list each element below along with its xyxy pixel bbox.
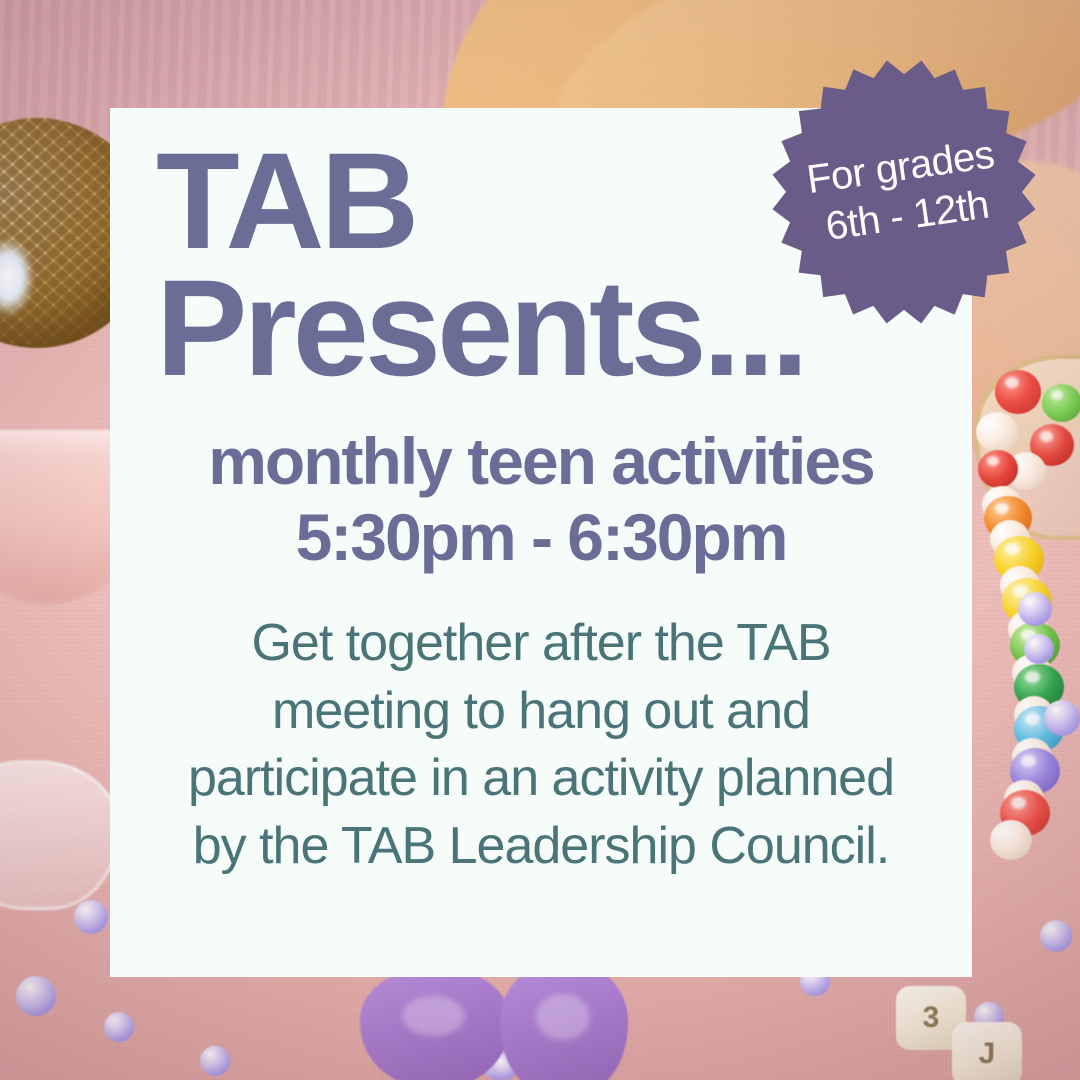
badge-text: For grades 6th - 12th <box>753 41 1056 344</box>
description-line-3: participate in an activity planned <box>146 745 936 813</box>
subtitle-activities: monthly teen activities <box>140 423 942 500</box>
description-text: Get together after the TAB meeting to ha… <box>140 610 942 880</box>
subtitle-block: monthly teen activities 5:30pm - 6:30pm <box>140 423 942 576</box>
subtitle-time: 5:30pm - 6:30pm <box>140 499 942 576</box>
description-line-4: by the TAB Leadership Council. <box>146 813 936 881</box>
description-line-2: meeting to hang out and <box>146 678 936 746</box>
description-line-1: Get together after the TAB <box>146 610 936 678</box>
grades-starburst-badge: For grades 6th - 12th <box>770 58 1038 326</box>
